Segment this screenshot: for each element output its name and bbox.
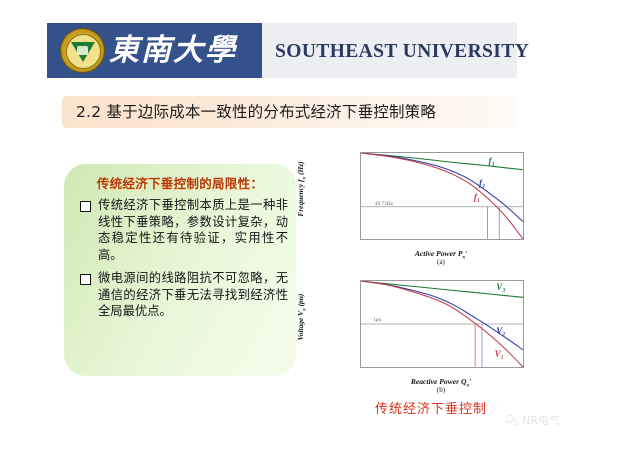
- y-axis-label-a: Frequency fx (Hz): [296, 146, 308, 232]
- list-item: 微电源间的线路阻抗不可忽略，无通信的经济下垂无法寻找到经济性全局最优点。: [76, 270, 288, 320]
- page-title: 2.2 基于边际成本一致性的分布式经济下垂控制策略: [62, 96, 517, 128]
- subfigure-caption-b: (b): [360, 386, 522, 394]
- bullet-text: 微电源间的线路阻抗不可忽略，无通信的经济下垂无法寻找到经济性全局最优点。: [98, 270, 288, 320]
- plot-area-a: 4949.55050.5510.20.40.60.8149.75Hzf₃f₂f₁: [360, 152, 524, 240]
- slide-canvas: 東南大學 SOUTHEAST UNIVERSITY 2.2 基于边际成本一致性的…: [0, 0, 640, 452]
- note-box-heading: 传统经济下垂控制的局限性：: [64, 173, 296, 192]
- university-name-cn: 東南大學: [109, 28, 237, 74]
- limitations-note-box: 传统经济下垂控制的局限性： 传统经济下垂控制本质上是一种非线性下垂策略，参数设计…: [64, 164, 296, 376]
- series-f1: [361, 153, 523, 239]
- chart-annotation: 1pu: [373, 317, 381, 323]
- wechat-icon: [505, 414, 518, 427]
- header-logo-band: 東南大學: [47, 23, 262, 78]
- bullet-square-icon: [80, 274, 91, 285]
- list-item: 传统经济下垂控制本质上是一种非线性下垂策略，参数设计复杂，动态稳定性还有待验证，…: [76, 197, 288, 263]
- note-bullet-list: 传统经济下垂控制本质上是一种非线性下垂策略，参数设计复杂，动态稳定性还有待验证，…: [76, 197, 288, 327]
- slide-header: 東南大學 SOUTHEAST UNIVERSITY: [47, 23, 517, 78]
- university-emblem-icon: [61, 29, 104, 72]
- series-label-V1: V₁: [495, 349, 504, 359]
- watermark: NR电气: [505, 412, 560, 428]
- series-label-f3: f₃: [489, 156, 495, 166]
- plot-area-b: 0.9511.050.20.40.60.811puV₃V₂V₁: [360, 280, 524, 368]
- series-label-f1: f₁: [474, 192, 480, 202]
- chart-frequency-vs-active-power: 4949.55050.5510.20.40.60.8149.75Hzf₃f₂f₁…: [322, 146, 540, 264]
- subfigure-caption-a: (a): [360, 258, 522, 266]
- watermark-label: NR电气: [522, 412, 560, 428]
- series-label-V2: V₂: [496, 326, 505, 336]
- chart-voltage-vs-reactive-power: 0.9511.050.20.40.60.811puV₃V₂V₁ Voltage …: [322, 274, 540, 392]
- bullet-text: 传统经济下垂控制本质上是一种非线性下垂策略，参数设计复杂，动态稳定性还有待验证，…: [98, 197, 288, 263]
- series-label-f2: f₂: [479, 178, 485, 188]
- chart-annotation: 49.75Hz: [375, 201, 393, 207]
- series-f2: [361, 153, 523, 222]
- bullet-square-icon: [80, 201, 91, 212]
- series-label-V3: V₃: [496, 282, 505, 292]
- y-axis-label-b: Voltage Vx (pu): [296, 274, 308, 360]
- figure-panel: 4949.55050.5510.20.40.60.8149.75Hzf₃f₂f₁…: [322, 146, 540, 394]
- university-name-en: SOUTHEAST UNIVERSITY: [275, 23, 529, 78]
- section-title-bar: 2.2 基于边际成本一致性的分布式经济下垂控制策略: [62, 96, 517, 128]
